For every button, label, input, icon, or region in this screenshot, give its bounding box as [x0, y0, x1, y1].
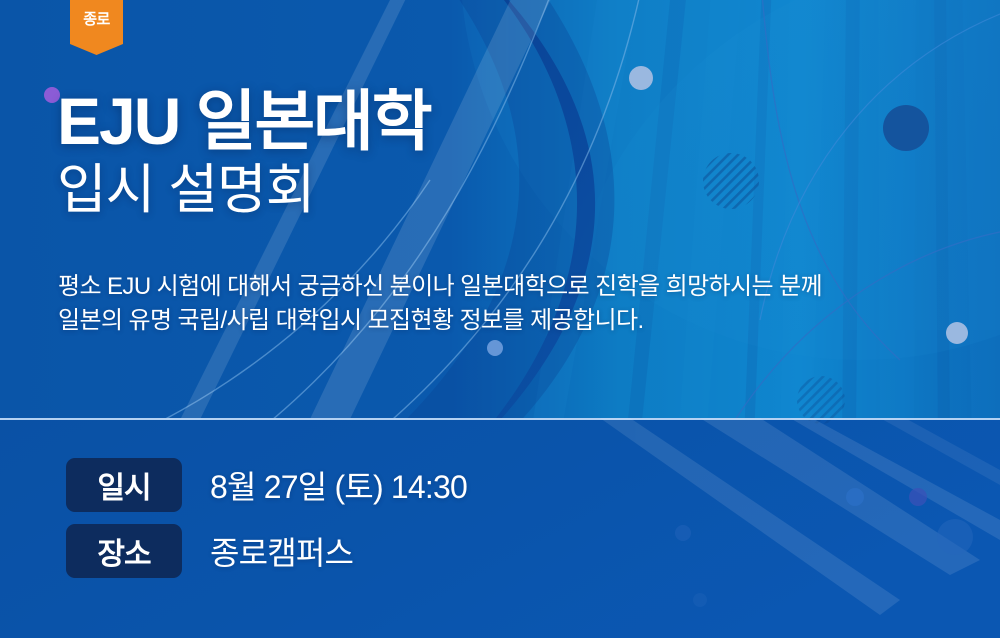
- info-value-datetime: 8월 27일 (토) 14:30: [210, 462, 467, 508]
- info-label-location: 장소: [66, 524, 182, 578]
- banner-content: EJU 일본대학 입시 설명회 평소 EJU 시험에 대해서 궁금하신 분이나 …: [0, 0, 1000, 638]
- description-line-1: 평소 EJU 시험에 대해서 궁금하신 분이나 일본대학으로 진학을 희망하시는…: [58, 270, 978, 304]
- page-title: EJU 일본대학: [57, 88, 431, 154]
- info-value-location: 종로캠퍼스: [210, 528, 353, 574]
- description-line-2: 일본의 유명 국립/사립 대학입시 모집현황 정보를 제공합니다.: [58, 304, 978, 338]
- branch-ribbon: 종로: [70, 0, 123, 55]
- branch-ribbon-label: 종로: [83, 0, 110, 27]
- info-label-datetime: 일시: [66, 458, 182, 512]
- page-subtitle: 입시 설명회: [57, 162, 431, 219]
- event-info-block: 일시 8월 27일 (토) 14:30 장소 종로캠퍼스: [66, 458, 467, 590]
- description-text: 평소 EJU 시험에 대해서 궁금하신 분이나 일본대학으로 진학을 희망하시는…: [58, 270, 978, 338]
- info-row-datetime: 일시 8월 27일 (토) 14:30: [66, 458, 467, 512]
- eju-seminar-banner: 종로 EJU 일본대학 입시 설명회 평소 EJU 시험에 대해서 궁금하신 분…: [0, 0, 1000, 638]
- title-block: EJU 일본대학 입시 설명회: [57, 88, 431, 219]
- info-row-location: 장소 종로캠퍼스: [66, 524, 467, 578]
